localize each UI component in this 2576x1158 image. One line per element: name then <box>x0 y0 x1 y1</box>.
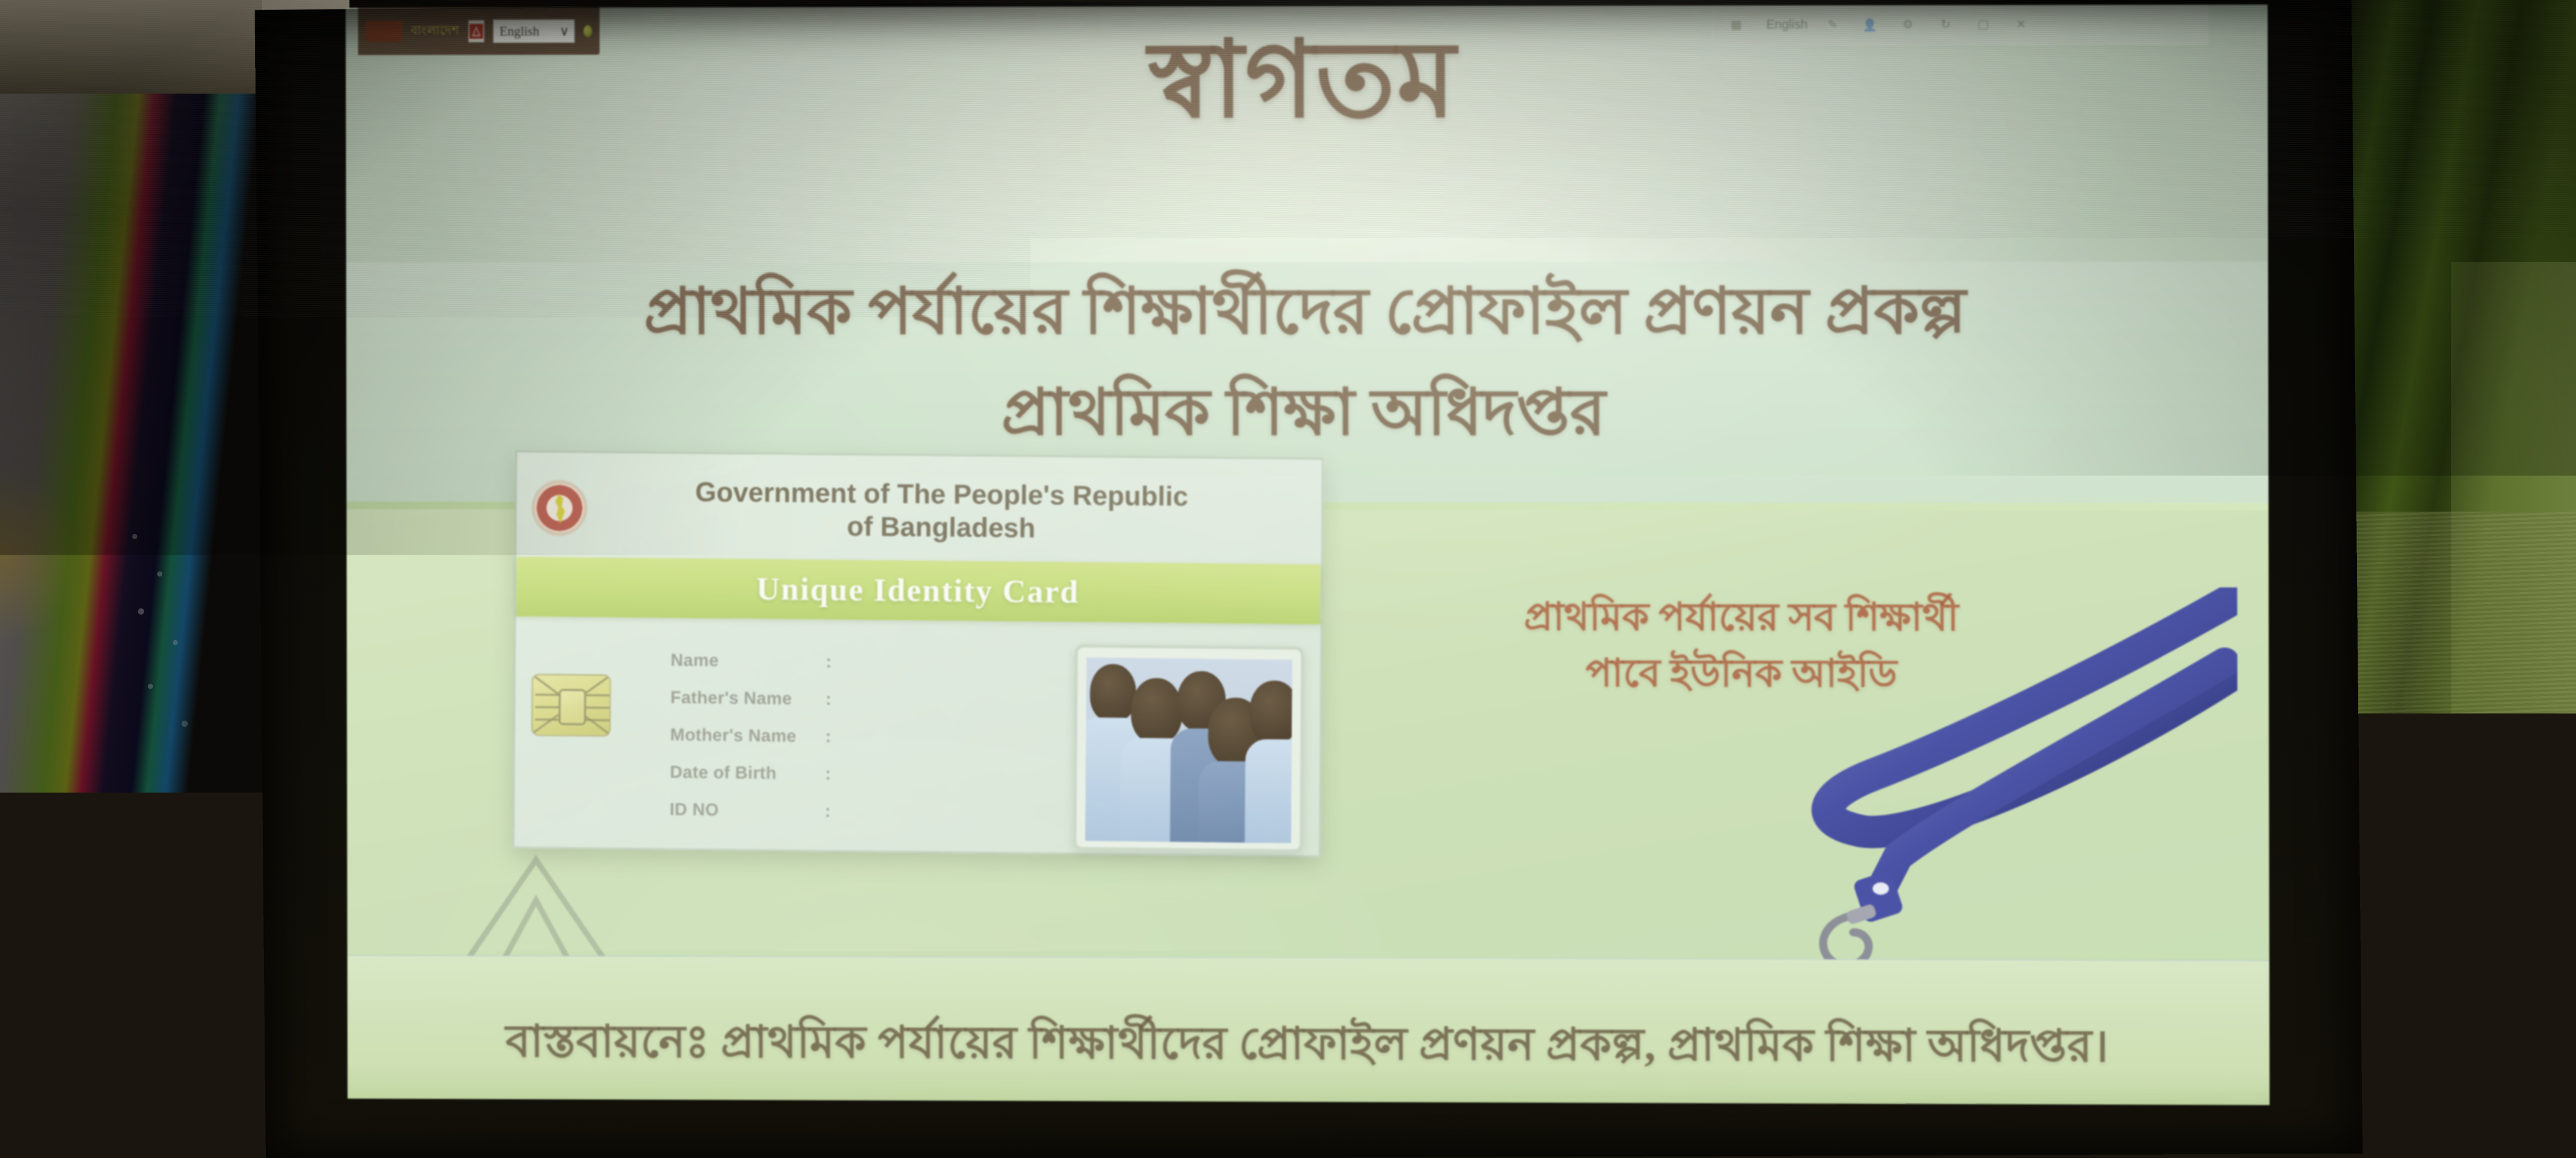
smart-card-chip-icon <box>531 674 611 737</box>
poster-dot-pattern <box>122 518 235 842</box>
projector-screen-frame: স্বাগতম প্রাথমিক পর্যায়ের শিক্ষার্থীদের… <box>255 0 2363 1158</box>
group-of-school-children-photo <box>1085 658 1292 843</box>
brand-pill <box>366 21 402 42</box>
card-header-line-2: of Bangladesh <box>600 508 1284 548</box>
card-header: Government of The People's Republic of B… <box>517 452 1322 565</box>
slide-footer-text: বাস্তবায়নেঃ প্রাথমিক পর্যায়ের শিক্ষার্… <box>348 1006 2270 1087</box>
status-dot-icon <box>583 25 592 37</box>
brand-word: বাংলাদেশ <box>411 21 459 42</box>
toolbar-item-language[interactable]: English <box>1767 18 1808 32</box>
card-photo-frame <box>1073 645 1304 853</box>
card-field-list: Name : Father's Name : Mother's Name : <box>616 646 1068 841</box>
card-field-value <box>837 742 1068 745</box>
card-field-row: Date of Birth : <box>670 762 1068 787</box>
card-field-colon: : <box>826 652 838 672</box>
exit-icon: ✕ <box>2013 17 2028 32</box>
toolbar-item-exit[interactable]: ✕ <box>2013 17 2033 32</box>
toolbar-item-refresh[interactable]: ↻ <box>1938 17 1958 32</box>
card-field-row: Name : <box>671 650 1069 674</box>
window-icon: ▢ <box>1976 17 1991 32</box>
toolbar-item-pen[interactable]: ✎ <box>1825 17 1845 32</box>
language-select[interactable]: English ∨ <box>493 19 575 43</box>
card-field-label: Date of Birth <box>670 762 825 784</box>
person-icon: 👤 <box>1863 17 1878 32</box>
unique-identity-card: Government of The People's Republic of B… <box>512 450 1324 857</box>
gear-icon: ⚙ <box>1900 17 1915 32</box>
presentation-slide: স্বাগতম প্রাথমিক পর্যায়ের শিক্ষার্থীদের… <box>346 4 2270 1105</box>
site-language-bar[interactable]: বাংলাদেশ English ∨ <box>358 7 600 55</box>
slide-subtitle-line-1: প্রাথমিক পর্যায়ের শিক্ষার্থীদের প্রোফাই… <box>346 260 2268 369</box>
card-field-label: Name <box>671 650 826 671</box>
toolbar-item-window[interactable]: ▢ <box>1976 17 1996 32</box>
pen-icon: ✎ <box>1825 17 1840 32</box>
bangladesh-flag-icon[interactable] <box>468 20 484 42</box>
bangladesh-government-emblem-icon <box>533 481 587 535</box>
toolbar-item-grid[interactable]: ▦ <box>1729 17 1749 32</box>
toolbar-item-settings[interactable]: ⚙ <box>1900 17 1920 32</box>
card-field-colon: : <box>826 689 838 709</box>
toolbar-label-language: English <box>1767 18 1808 32</box>
card-header-text: Government of The People's Republic of B… <box>600 475 1309 548</box>
card-field-value <box>837 817 1068 819</box>
card-field-value <box>837 779 1068 782</box>
card-field-value <box>838 668 1068 670</box>
card-field-row: Father's Name : <box>670 688 1068 711</box>
card-field-label: ID NO <box>670 799 825 821</box>
card-field-colon: : <box>825 801 837 821</box>
toolbar-item-person[interactable]: 👤 <box>1863 17 1883 32</box>
card-field-colon: : <box>825 726 837 746</box>
card-field-label: Father's Name <box>670 688 826 709</box>
language-select-value: English <box>500 23 540 39</box>
card-field-row: ID NO : <box>670 799 1068 824</box>
chevron-down-icon: ∨ <box>560 23 569 39</box>
curtain-pattern <box>2326 512 2576 1158</box>
card-banner-title: Unique Identity Card <box>756 570 1080 610</box>
card-field-colon: : <box>825 764 837 784</box>
presenter-toolbar[interactable]: ▦ English ✎ 👤 ⚙ ↻ ▢ <box>1712 4 2208 45</box>
card-field-value <box>838 705 1068 708</box>
card-banner: Unique Identity Card <box>516 557 1321 624</box>
window-curtain <box>2326 0 2576 1158</box>
wall-poster <box>0 94 262 1029</box>
grid-icon: ▦ <box>1729 17 1744 32</box>
card-header-line-1: Government of The People's Republic <box>600 475 1284 515</box>
blue-lanyard-with-clip-icon <box>1747 587 2238 989</box>
card-body: Name : Father's Name : Mother's Name : <box>514 624 1320 859</box>
card-field-label: Mother's Name <box>670 725 826 747</box>
refresh-icon: ↻ <box>1938 17 1953 32</box>
card-field-row: Mother's Name : <box>670 725 1068 749</box>
